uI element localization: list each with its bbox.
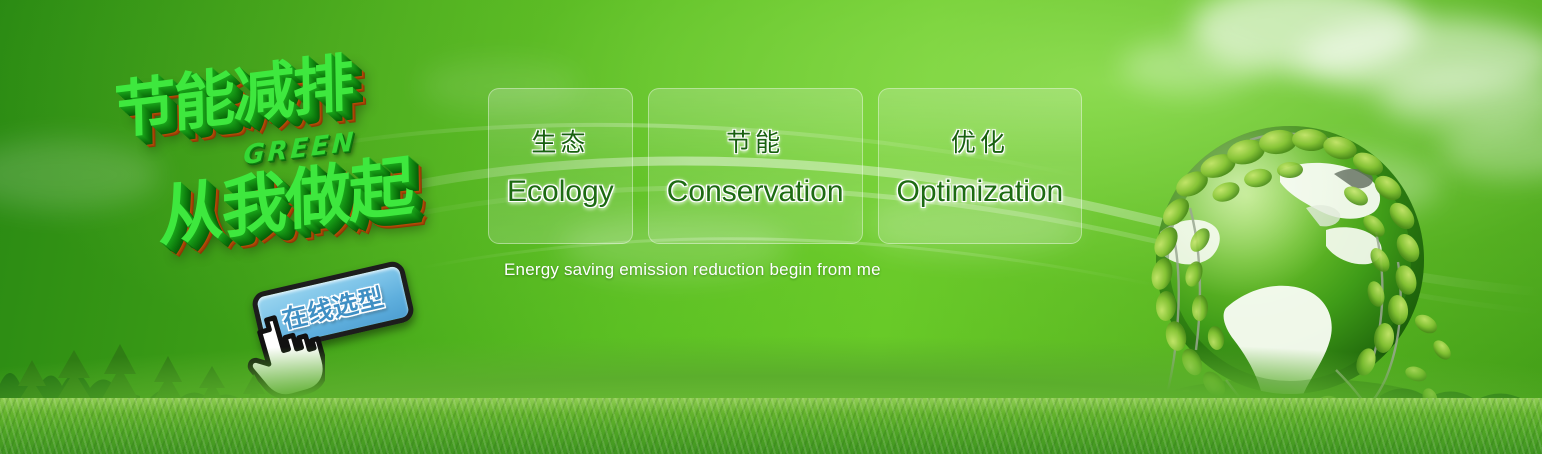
cloud-icon [1190,0,1420,74]
feature-card-optimization[interactable]: 优化 Optimization [878,88,1083,244]
feature-card-list: 生态 Ecology 节能 Conservation 优化 Optimizati… [488,88,1082,244]
feature-card-cn-label: 节能 [726,123,784,159]
feature-card-en-label: Conservation [667,175,844,209]
feature-card-ecology[interactable]: 生态 Ecology [488,88,633,244]
feature-card-en-label: Optimization [897,175,1064,209]
headline-line-2: 从我做起 [157,132,413,260]
cloud-icon [1120,40,1260,94]
hero-headline: 节能减排 GREEN 从我做起 [95,36,485,266]
grass-field-icon [0,398,1542,454]
feature-card-cn-label: 优化 [951,123,1009,159]
tagline-text: Energy saving emission reduction begin f… [504,260,881,280]
eco-promo-banner: 节能减排 GREEN 从我做起 生态 Ecology 节能 Conservati… [0,0,1542,454]
feature-card-en-label: Ecology [507,175,614,209]
cloud-icon [1300,18,1542,96]
feature-card-cn-label: 生态 [531,123,589,159]
feature-card-conservation[interactable]: 节能 Conservation [648,88,863,244]
